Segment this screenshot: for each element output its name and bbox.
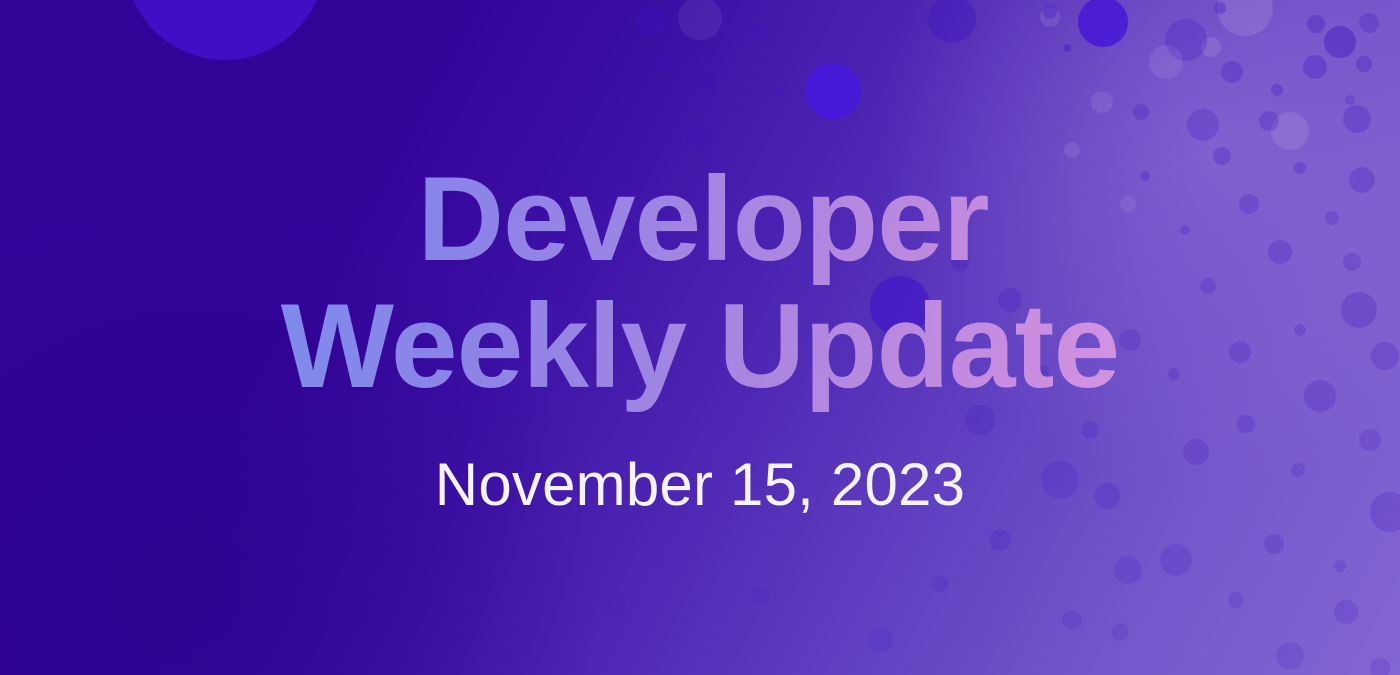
issue-date: November 15, 2023: [435, 450, 965, 519]
title-line-1: Developer: [287, 156, 1119, 283]
newsletter-banner: Developer Weekly Update November 15, 202…: [0, 0, 1400, 675]
title-line-2: Weekly Update: [281, 283, 1119, 410]
banner-content: Developer Weekly Update November 15, 202…: [0, 0, 1400, 675]
page-title: Developer Weekly Update: [271, 156, 1129, 416]
